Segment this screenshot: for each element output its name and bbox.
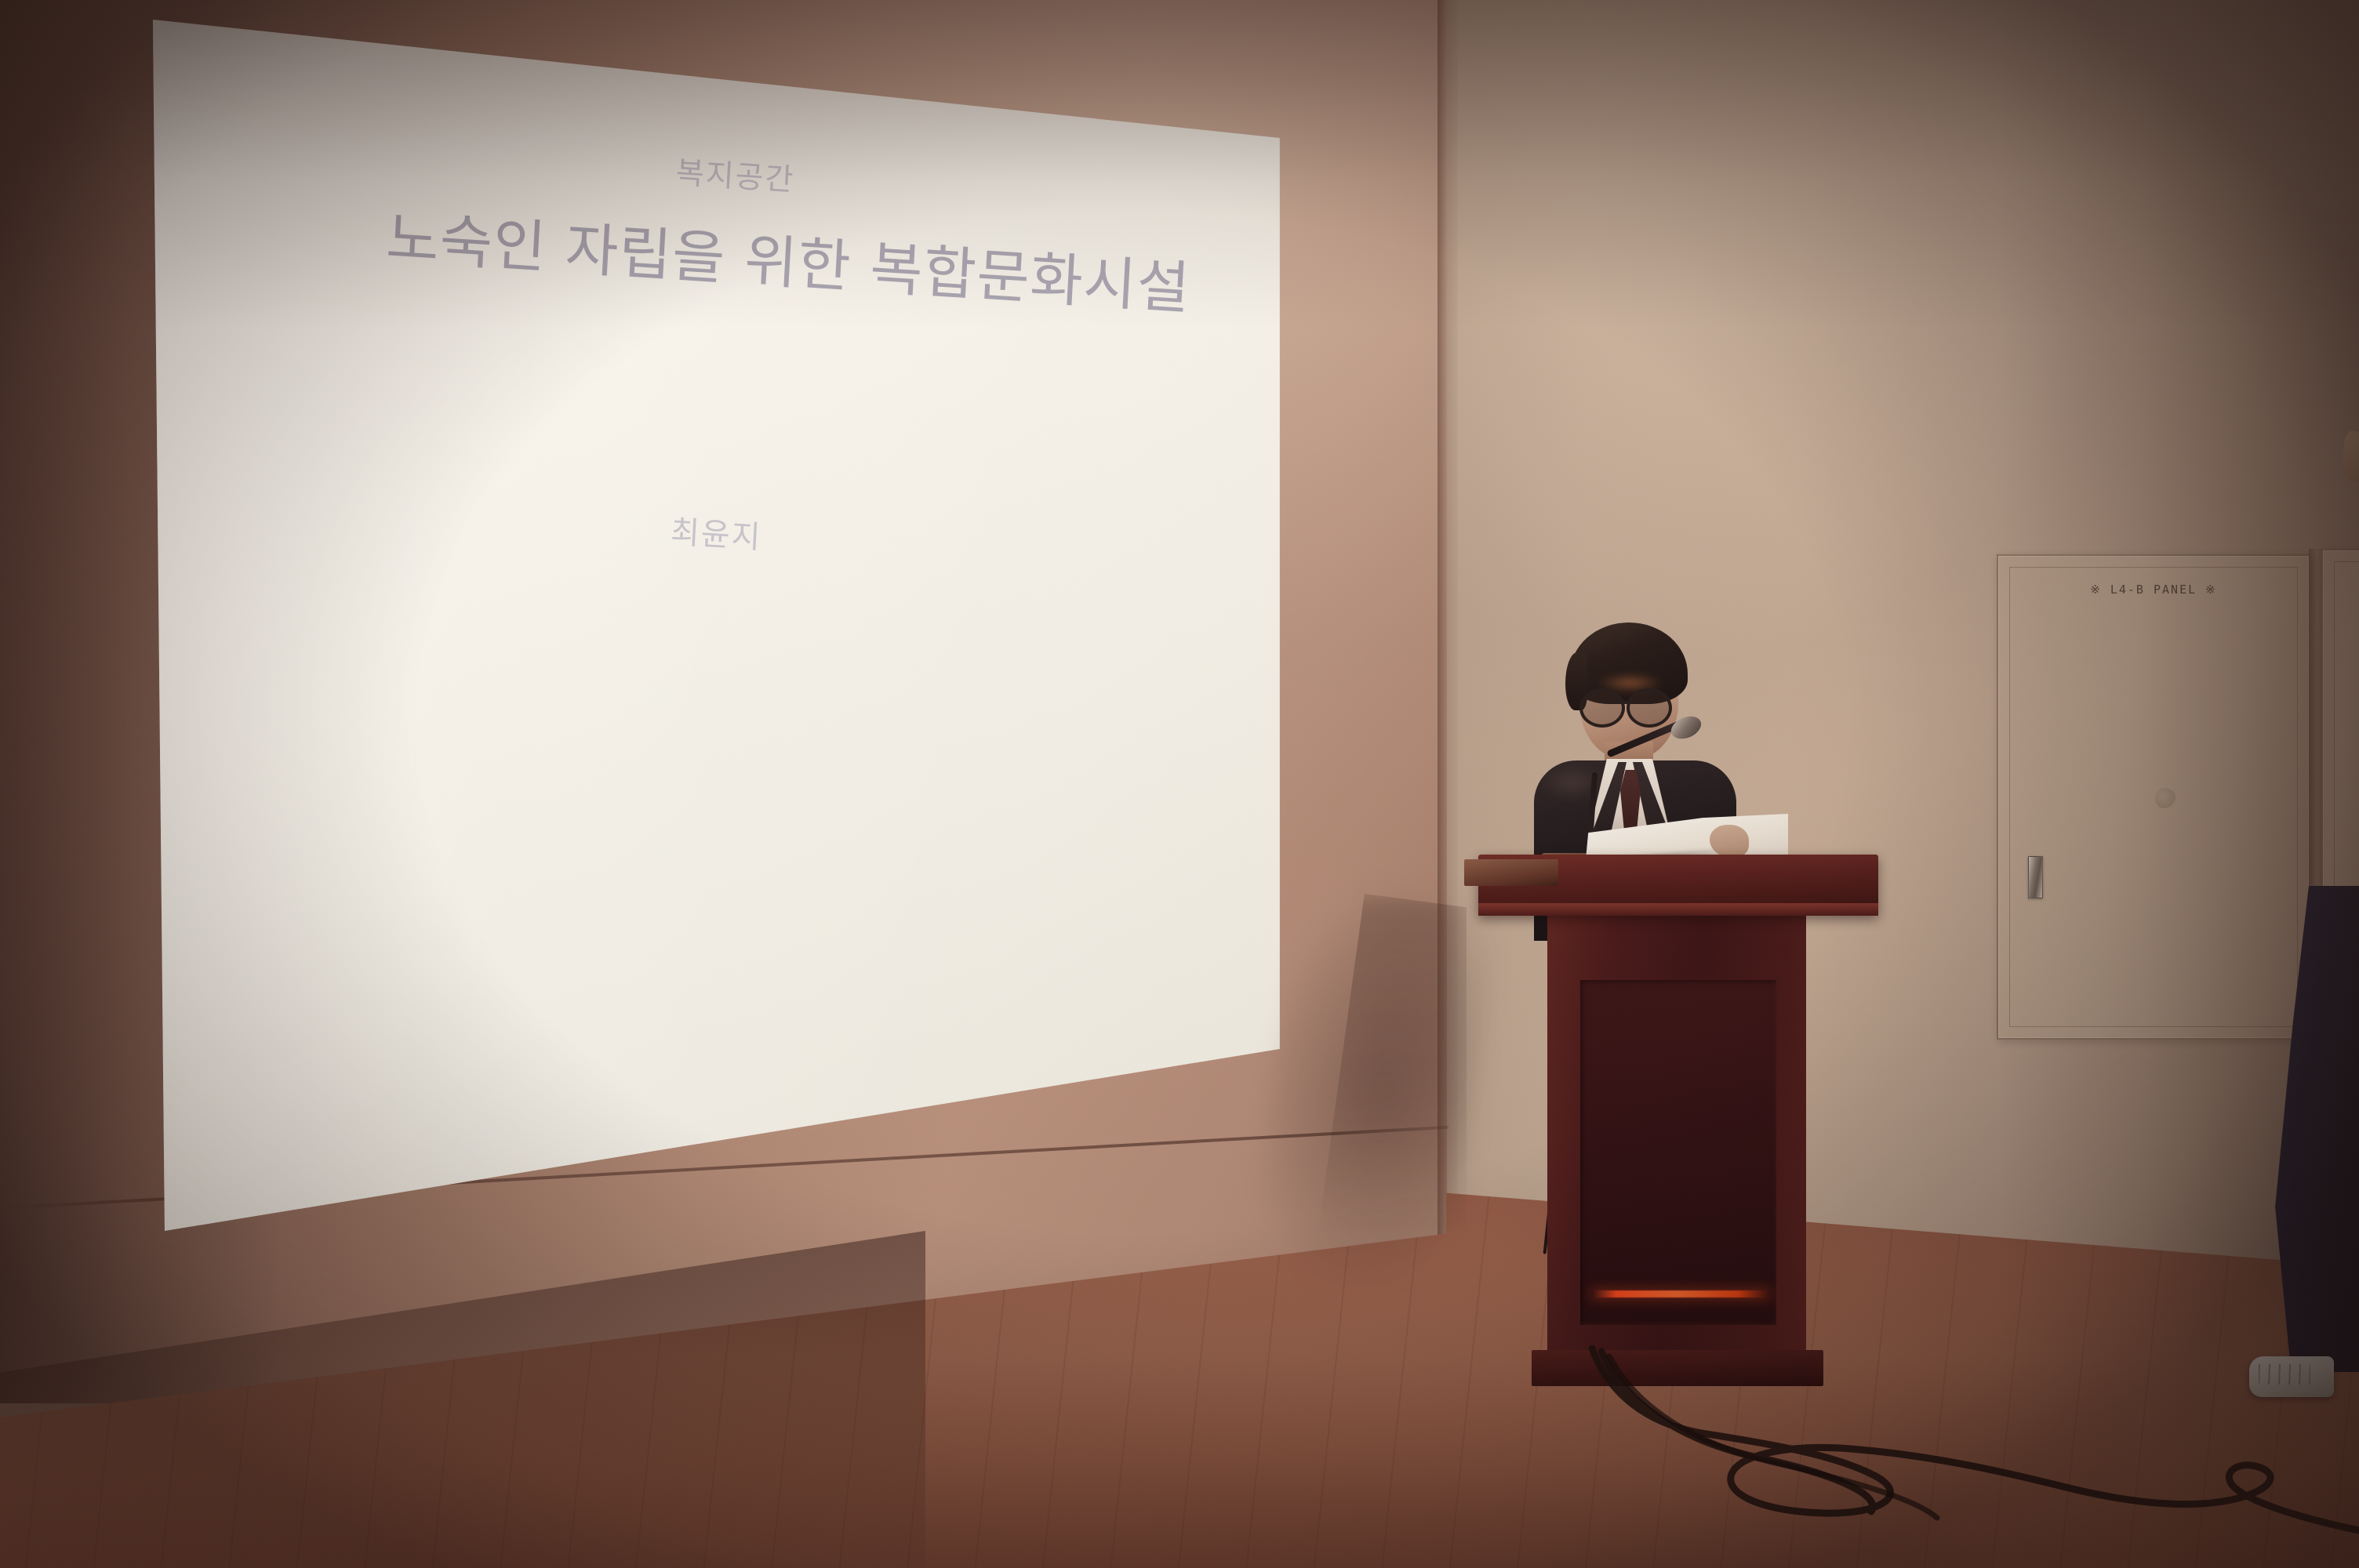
glasses-icon	[1579, 688, 1680, 721]
glasses-lens-right	[1627, 688, 1672, 728]
photo-scene: 복지공간 노숙인 자립을 위한 복합문화시설 최윤지 ※ L4-B PANEL …	[0, 0, 2359, 1568]
podium-accent-light-stripe	[1591, 1290, 1770, 1298]
podium-side-ledge	[1464, 859, 1558, 886]
right-edge-vignette	[1998, 0, 2359, 1568]
glasses-bridge	[1616, 701, 1632, 704]
podium-top-edge	[1478, 903, 1878, 916]
podium-recessed-panel	[1580, 980, 1776, 1325]
glasses-lens-left	[1579, 688, 1625, 728]
podium	[1478, 855, 1878, 1403]
